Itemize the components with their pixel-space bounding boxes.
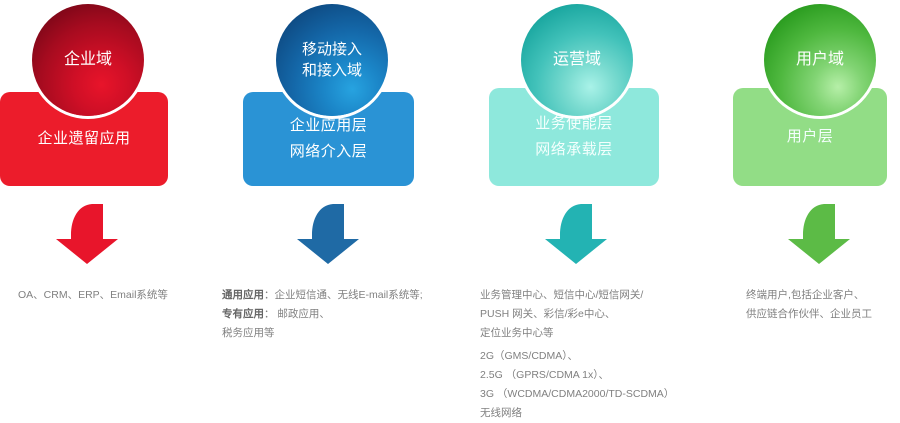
caption-text: ：企业短信通、无线E-mail系统等; — [264, 289, 423, 301]
arrow-down-icon — [293, 203, 365, 265]
arrow-mobile-access — [293, 203, 365, 265]
caption-text: 3G （WCDMA/CDMA2000/TD-SCDMA） — [480, 388, 674, 400]
arrow-operations — [541, 203, 613, 265]
caption-text: 税务应用等 — [222, 327, 275, 339]
arrow-down-icon — [541, 203, 613, 265]
caption-line: 定位业务中心等 — [480, 324, 740, 343]
caption-operations-networks: 2G（GMS/CDMA）、 2.5G （GPRS/CDMA 1x）、 3G （W… — [480, 347, 760, 423]
caption-operations: 业务管理中心、短信中心/短信网关/ PUSH 网关、彩信/彩e中心、 定位业务中… — [480, 286, 740, 343]
caption-line: 专有应用： 邮政应用、 — [222, 305, 492, 324]
caption-text: 无线网络 — [480, 407, 522, 419]
caption-line: 终端用户,包括企业客户、 — [746, 286, 900, 305]
sphere-operations[interactable]: 运营域 — [521, 4, 633, 116]
caption-text: 业务管理中心、短信中心/短信网关/ — [480, 289, 643, 301]
caption-line: OA、CRM、ERP、Email系统等 — [18, 286, 218, 305]
column-enterprise: 企业遗留应用 企业域 OA、CRM、ERP、Email系统等 — [0, 0, 175, 404]
architecture-diagram: 企业遗留应用 企业域 OA、CRM、ERP、Email系统等 企业应用层 网络介… — [0, 0, 900, 404]
panel-label-mobile-access-2: 网络介入层 — [290, 139, 368, 165]
caption-line: 3G （WCDMA/CDMA2000/TD-SCDMA） — [480, 385, 760, 404]
caption-mobile-access: 通用应用：企业短信通、无线E-mail系统等; 专有应用： 邮政应用、 税务应用… — [222, 286, 492, 343]
caption-text: 终端用户,包括企业客户、 — [746, 289, 864, 301]
panel-label-operations-2: 网络承载层 — [535, 137, 613, 163]
arrow-user — [784, 203, 856, 265]
sphere-label-user: 用户域 — [796, 50, 844, 70]
caption-text: 供应链合作伙伴、企业员工 — [746, 308, 872, 320]
panel-label-enterprise: 企业遗留应用 — [37, 126, 130, 152]
sphere-label-mobile-access-1: 移动接入 — [302, 39, 362, 60]
column-mobile-access: 企业应用层 网络介入层 移动接入 和接入域 通用应用：企业短信通、无线E-mai… — [243, 0, 423, 404]
column-operations: 业务使能层 网络承载层 运营域 业务管理中心、短信中心/短信网关/ PUSH 网… — [489, 0, 669, 404]
caption-text: 2G（GMS/CDMA）、 — [480, 350, 578, 362]
caption-user: 终端用户,包括企业客户、 供应链合作伙伴、企业员工 — [746, 286, 900, 324]
arrow-enterprise — [52, 203, 124, 265]
panel-label-mobile-access-1: 企业应用层 — [290, 113, 368, 139]
caption-text: OA、CRM、ERP、Email系统等 — [18, 289, 168, 301]
caption-line: PUSH 网关、彩信/彩e中心、 — [480, 305, 740, 324]
caption-text-bold: 专有应用 — [222, 308, 264, 320]
sphere-user[interactable]: 用户域 — [764, 4, 876, 116]
arrow-down-icon — [784, 203, 856, 265]
caption-text: 2.5G （GPRS/CDMA 1x）、 — [480, 369, 609, 381]
caption-line: 2.5G （GPRS/CDMA 1x）、 — [480, 366, 760, 385]
sphere-label-operations: 运营域 — [553, 50, 601, 70]
sphere-label-mobile-access-2: 和接入域 — [302, 60, 362, 81]
caption-text: PUSH 网关、彩信/彩e中心、 — [480, 308, 615, 320]
caption-line: 无线网络 — [480, 404, 760, 423]
column-user: 用户层 用户域 终端用户,包括企业客户、 供应链合作伙伴、企业员工 — [733, 0, 900, 404]
sphere-enterprise[interactable]: 企业域 — [32, 4, 144, 116]
panel-label-user: 用户层 — [787, 124, 834, 150]
caption-text: 定位业务中心等 — [480, 327, 554, 339]
caption-enterprise: OA、CRM、ERP、Email系统等 — [18, 286, 218, 305]
arrow-down-icon — [52, 203, 124, 265]
caption-line: 2G（GMS/CDMA）、 — [480, 347, 760, 366]
sphere-label-enterprise: 企业域 — [64, 50, 112, 70]
caption-line: 业务管理中心、短信中心/短信网关/ — [480, 286, 740, 305]
sphere-mobile-access[interactable]: 移动接入 和接入域 — [276, 4, 388, 116]
caption-text: ： 邮政应用、 — [264, 308, 330, 320]
caption-line: 供应链合作伙伴、企业员工 — [746, 305, 900, 324]
caption-text-bold: 通用应用 — [222, 289, 264, 301]
caption-line: 通用应用：企业短信通、无线E-mail系统等; — [222, 286, 492, 305]
caption-line: 税务应用等 — [222, 324, 492, 343]
